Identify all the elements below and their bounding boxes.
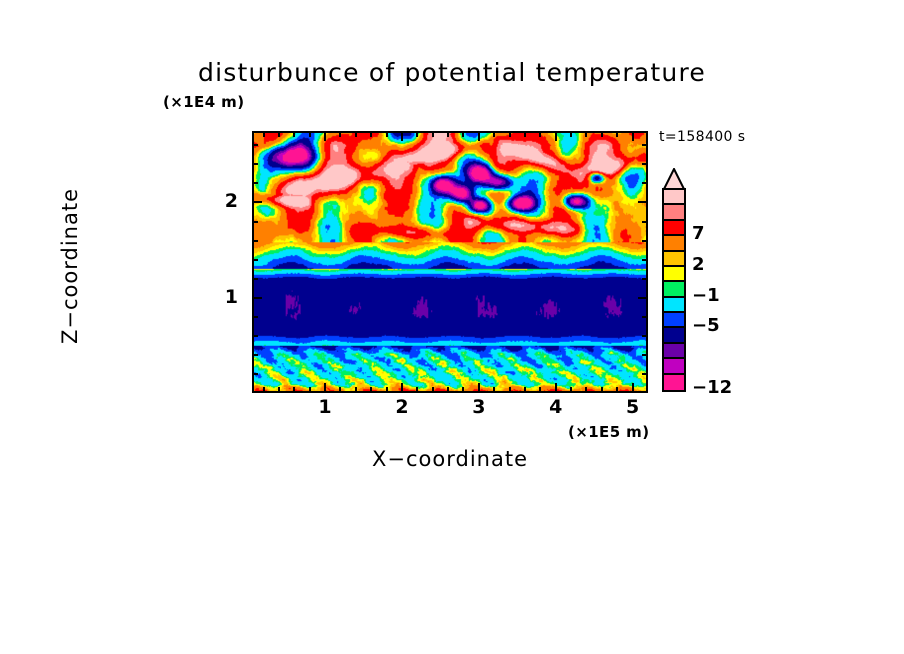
y-tick-minor-right <box>642 335 648 337</box>
y-tick-minor <box>252 163 258 165</box>
x-tick-minor <box>386 387 388 393</box>
x-tick-minor <box>462 387 464 393</box>
colorbar-segment <box>664 359 684 374</box>
colorbar-arrow-icon <box>662 168 686 190</box>
colorbar-segment <box>664 375 684 390</box>
colorbar-segment <box>664 344 684 359</box>
y-tick-minor <box>252 278 258 280</box>
x-tick-major <box>555 383 557 393</box>
x-tick-label: 2 <box>382 396 422 418</box>
x-axis-unit-label: (×1E5 m) <box>568 423 649 441</box>
y-tick-minor <box>252 182 258 184</box>
x-tick-minor <box>493 387 495 393</box>
colorbar-segment <box>664 328 684 343</box>
colorbar-segment <box>664 205 684 220</box>
y-tick-minor-right <box>642 373 648 375</box>
x-tick-minor <box>416 387 418 393</box>
x-tick-minor <box>263 387 265 393</box>
colorbar-tick-label: 2 <box>692 254 705 275</box>
colorbar-segment <box>664 282 684 297</box>
x-tick-minor-top <box>339 131 341 137</box>
colorbar-segment <box>664 190 684 205</box>
x-tick-minor <box>509 387 511 393</box>
x-tick-minor <box>355 387 357 393</box>
colorbar-tick-label: −5 <box>692 315 720 336</box>
y-axis-unit-label: (×1E4 m) <box>163 93 244 111</box>
time-annotation: t=158400 s <box>659 129 745 145</box>
x-tick-minor <box>447 387 449 393</box>
x-tick-minor-top <box>462 131 464 137</box>
y-tick-minor <box>252 354 258 356</box>
y-tick-major <box>252 297 262 299</box>
x-tick-minor-top <box>370 131 372 137</box>
x-tick-major <box>478 383 480 393</box>
figure-canvas: disturbunce of potential temperature (×1… <box>0 0 904 654</box>
x-tick-label: 3 <box>459 396 499 418</box>
x-tick-label: 1 <box>305 396 345 418</box>
colorbar-tick-label: −12 <box>692 377 732 398</box>
y-tick-minor-right <box>642 240 648 242</box>
x-tick-minor-top <box>570 131 572 137</box>
x-tick-major-top <box>555 131 557 141</box>
colorbar-segment <box>664 298 684 313</box>
x-tick-minor-top <box>263 131 265 137</box>
x-tick-label: 5 <box>613 396 653 418</box>
x-tick-minor-top <box>447 131 449 137</box>
x-tick-minor-top <box>416 131 418 137</box>
y-tick-minor-right <box>642 278 648 280</box>
x-tick-minor-top <box>509 131 511 137</box>
x-tick-minor-top <box>432 131 434 137</box>
x-tick-minor <box>370 387 372 393</box>
heatmap-field <box>254 133 646 391</box>
y-tick-major-right <box>638 201 648 203</box>
x-tick-major <box>324 383 326 393</box>
x-tick-minor <box>601 387 603 393</box>
x-tick-minor-top <box>309 131 311 137</box>
x-tick-major <box>401 383 403 393</box>
y-tick-minor-right <box>642 144 648 146</box>
y-tick-minor-right <box>642 163 648 165</box>
y-tick-major-right <box>638 297 648 299</box>
x-tick-minor-top <box>386 131 388 137</box>
x-tick-minor <box>293 387 295 393</box>
y-tick-minor-right <box>642 221 648 223</box>
colorbar-segment <box>664 267 684 282</box>
chart-title: disturbunce of potential temperature <box>0 58 904 87</box>
colorbar-segment <box>664 236 684 251</box>
x-tick-minor <box>339 387 341 393</box>
x-tick-label: 4 <box>536 396 576 418</box>
x-tick-major-top <box>401 131 403 141</box>
x-tick-minor <box>585 387 587 393</box>
y-tick-minor <box>252 144 258 146</box>
y-tick-major <box>252 201 262 203</box>
y-tick-minor <box>252 316 258 318</box>
heatmap-canvas <box>254 133 646 391</box>
y-tick-minor-right <box>642 354 648 356</box>
y-tick-minor-right <box>642 259 648 261</box>
x-tick-major-top <box>478 131 480 141</box>
x-tick-minor-top <box>293 131 295 137</box>
x-tick-minor <box>432 387 434 393</box>
x-tick-major-top <box>632 131 634 141</box>
y-tick-minor <box>252 373 258 375</box>
x-tick-minor-top <box>585 131 587 137</box>
x-tick-minor <box>570 387 572 393</box>
colorbar-segment <box>664 221 684 236</box>
contour-plot-area <box>252 131 648 393</box>
y-tick-label: 1 <box>212 286 238 308</box>
x-tick-minor-top <box>601 131 603 137</box>
x-tick-minor <box>616 387 618 393</box>
y-tick-minor <box>252 259 258 261</box>
colorbar <box>662 188 686 392</box>
x-tick-minor-top <box>524 131 526 137</box>
x-tick-minor <box>524 387 526 393</box>
x-tick-major <box>632 383 634 393</box>
x-tick-minor <box>539 387 541 393</box>
x-tick-minor-top <box>355 131 357 137</box>
x-tick-minor <box>278 387 280 393</box>
x-tick-minor-top <box>616 131 618 137</box>
colorbar-tick-label: 7 <box>692 223 705 244</box>
y-tick-label: 2 <box>212 190 238 212</box>
y-tick-minor <box>252 335 258 337</box>
colorbar-segment <box>664 313 684 328</box>
y-tick-minor-right <box>642 182 648 184</box>
colorbar-tick-label: −1 <box>692 285 720 306</box>
x-tick-minor-top <box>539 131 541 137</box>
y-tick-minor <box>252 221 258 223</box>
y-tick-minor <box>252 240 258 242</box>
x-tick-minor <box>309 387 311 393</box>
x-tick-major-top <box>324 131 326 141</box>
x-axis-title: X−coordinate <box>252 447 648 471</box>
x-tick-minor-top <box>278 131 280 137</box>
y-tick-minor-right <box>642 316 648 318</box>
colorbar-segment <box>664 252 684 267</box>
x-tick-minor-top <box>493 131 495 137</box>
y-axis-title: Z−coordinate <box>58 136 82 396</box>
